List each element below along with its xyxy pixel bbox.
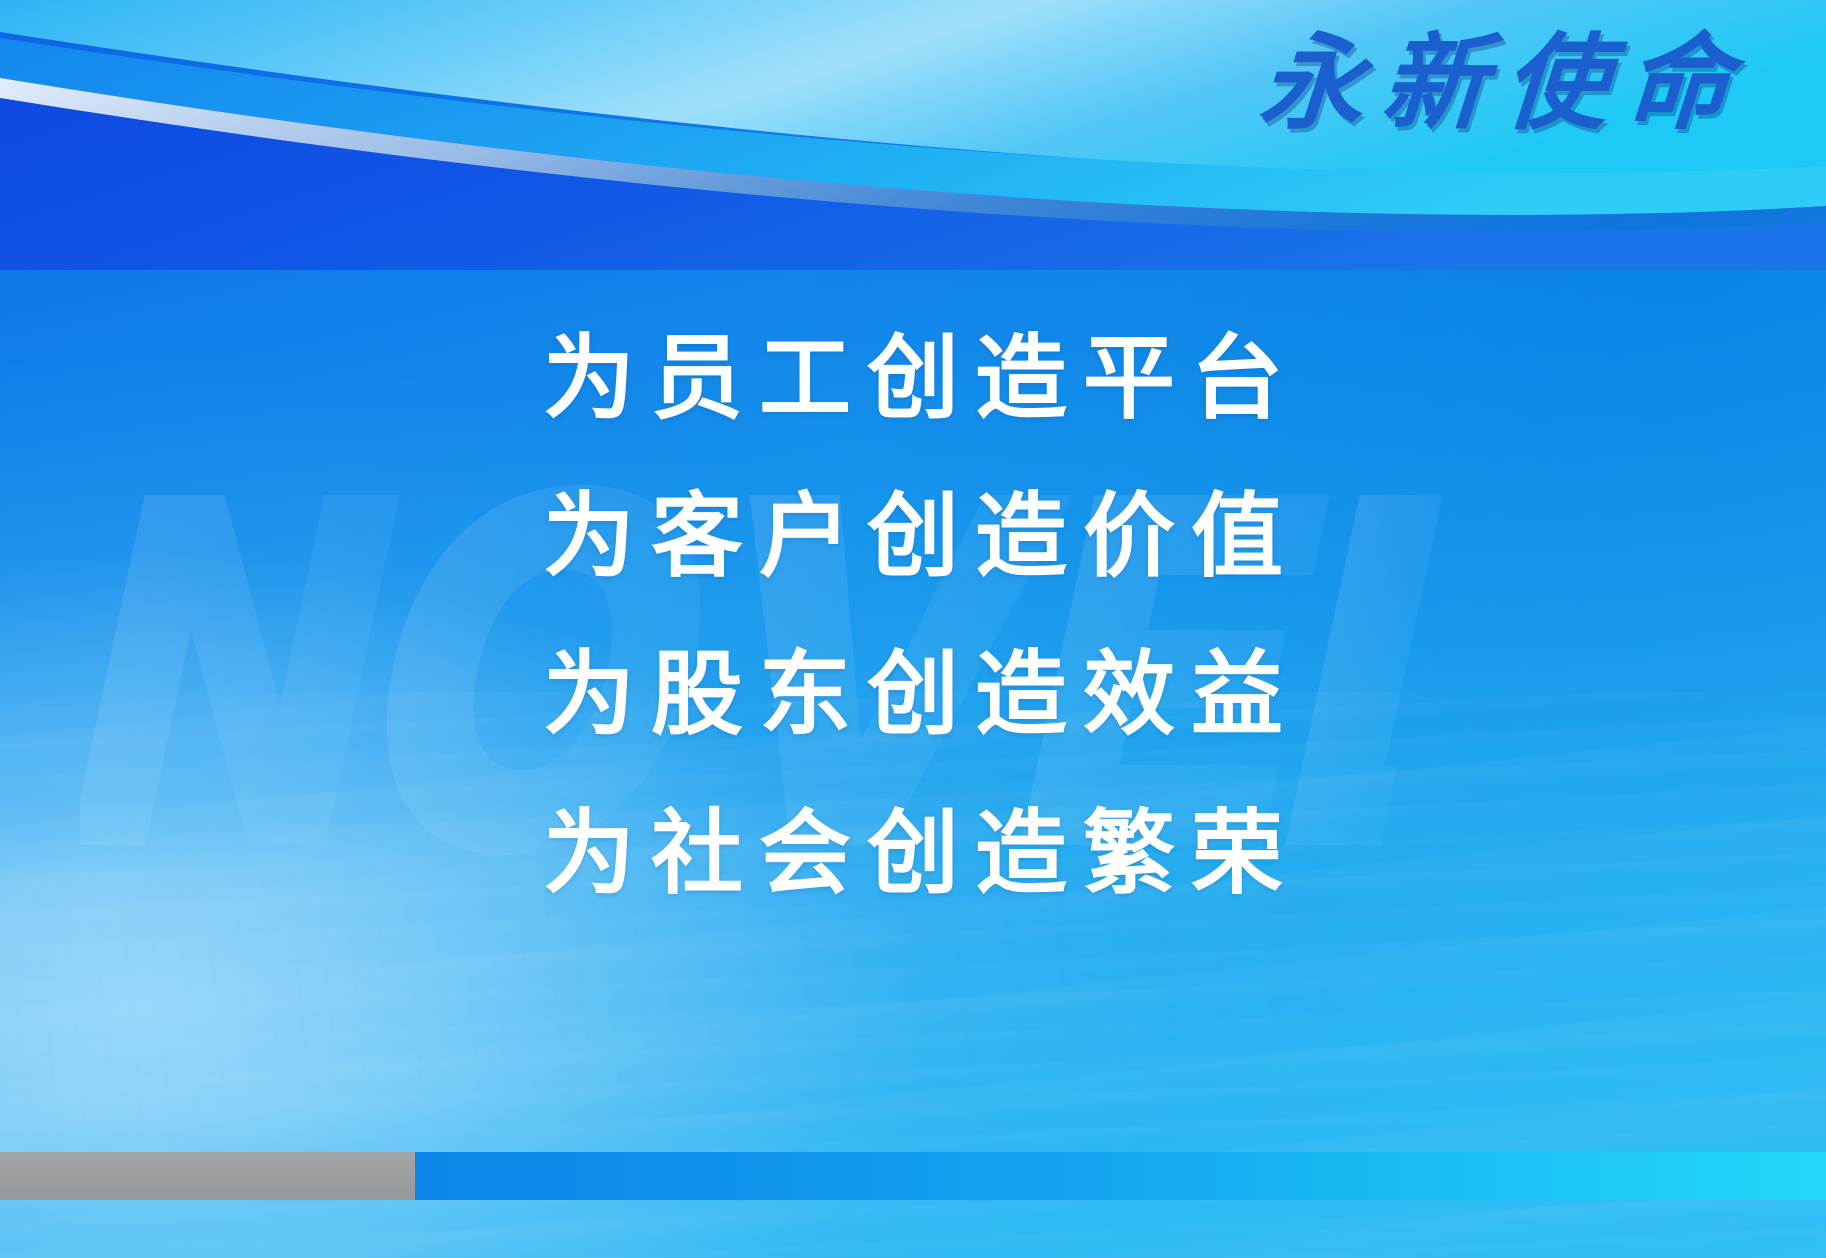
slogan-line-4: 为社会创造繁荣	[527, 775, 1299, 933]
slogan-line-1: 为员工创造平台	[527, 300, 1299, 458]
bottom-bar-gray-segment	[0, 1152, 415, 1200]
slide-canvas: 永新使命 为员工创造平台 为客户创造价值 为股东创造效益 为社会创造繁荣	[0, 0, 1826, 1258]
slogan-line-3: 为股东创造效益	[527, 616, 1299, 774]
bottom-accent-bar	[0, 1152, 1826, 1200]
slogan-block: 为员工创造平台 为客户创造价值 为股东创造效益 为社会创造繁荣	[0, 300, 1826, 933]
page-title: 永新使命	[1256, 28, 1752, 137]
slogan-line-2: 为客户创造价值	[527, 458, 1299, 616]
bottom-bar-blue-segment	[415, 1152, 1826, 1200]
